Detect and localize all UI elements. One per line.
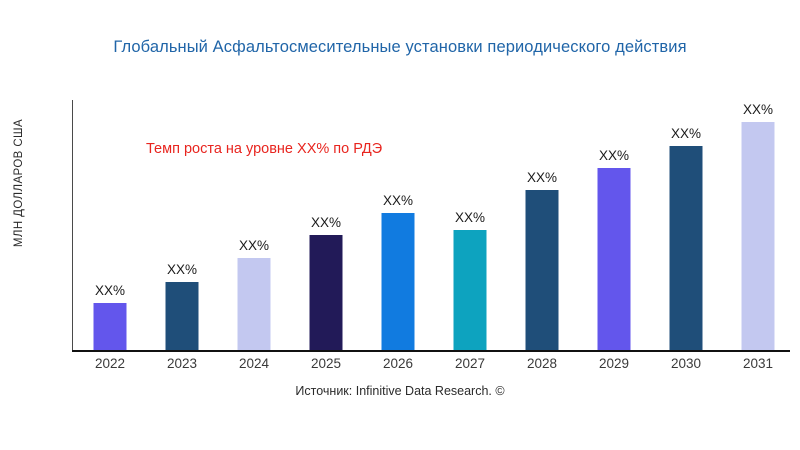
page-title: Глобальный Асфальтосмесительные установк… <box>0 38 800 57</box>
growth-rate-annotation: Темп роста на уровне XX% по РДЭ <box>146 141 382 157</box>
bar[interactable] <box>382 213 415 350</box>
bar-value-label: XX% <box>311 215 341 230</box>
x-tick-label-2025: 2025 <box>290 356 362 371</box>
x-axis-tick-labels: 2022202320242025202620272028202920302031 <box>72 356 790 378</box>
bar[interactable] <box>526 190 559 350</box>
bar[interactable] <box>742 122 775 350</box>
bar-value-label: XX% <box>167 262 197 277</box>
bar[interactable] <box>94 303 127 350</box>
source-caption: Источник: Infinitive Data Research. © <box>0 384 800 398</box>
x-tick-label-2027: 2027 <box>434 356 506 371</box>
bar[interactable] <box>310 235 343 350</box>
bar[interactable] <box>166 282 199 350</box>
bar-value-label: XX% <box>599 148 629 163</box>
x-axis-line <box>72 350 790 352</box>
x-tick-label-2026: 2026 <box>362 356 434 371</box>
bar-value-label: XX% <box>383 193 413 208</box>
bar[interactable] <box>454 230 487 350</box>
bar-chart-figure: Глобальный Асфальтосмесительные установк… <box>0 0 800 450</box>
x-tick-label-2031: 2031 <box>722 356 794 371</box>
bar[interactable] <box>238 258 271 350</box>
bar-value-label: XX% <box>743 102 773 117</box>
plot-area: XX%XX%XX%XX%XX%XX%XX%XX%XX%XX% <box>72 100 790 350</box>
y-axis-title-label: МЛН ДОЛЛАРОВ США <box>13 119 25 247</box>
bar[interactable] <box>598 168 631 350</box>
x-tick-label-2023: 2023 <box>146 356 218 371</box>
y-axis-title: МЛН ДОЛЛАРОВ США <box>8 45 30 345</box>
bar-value-label: XX% <box>671 126 701 141</box>
bar-value-label: XX% <box>455 210 485 225</box>
bar-series: XX%XX%XX%XX%XX%XX%XX%XX%XX%XX% <box>72 100 790 350</box>
bar-value-label: XX% <box>95 283 125 298</box>
bar-value-label: XX% <box>239 238 269 253</box>
x-tick-label-2022: 2022 <box>74 356 146 371</box>
bar-value-label: XX% <box>527 170 557 185</box>
x-tick-label-2024: 2024 <box>218 356 290 371</box>
x-tick-label-2030: 2030 <box>650 356 722 371</box>
x-tick-label-2028: 2028 <box>506 356 578 371</box>
bar[interactable] <box>670 146 703 350</box>
x-tick-label-2029: 2029 <box>578 356 650 371</box>
